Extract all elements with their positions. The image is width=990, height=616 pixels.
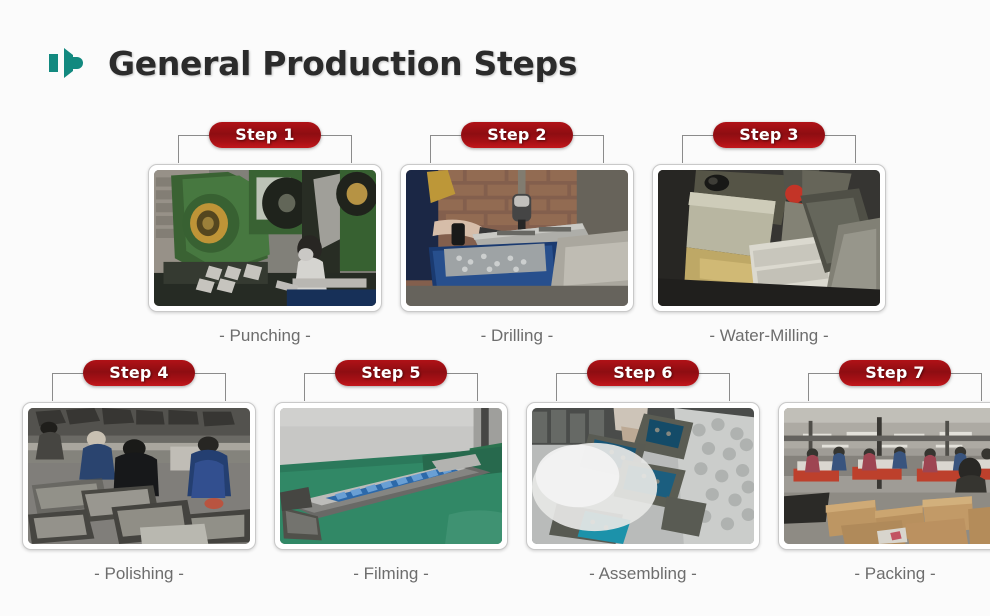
step-caption: - Punching - [148, 326, 382, 346]
status-badge: Step 6 [587, 360, 698, 386]
status-badge: Step 1 [209, 122, 320, 148]
drilling-photo [406, 170, 628, 306]
punching-photo [154, 170, 376, 306]
step-caption: - Polishing - [22, 564, 256, 584]
packing-photo [784, 408, 990, 544]
step-caption: - Drilling - [400, 326, 634, 346]
steps-row-top: Step 1 [148, 122, 886, 346]
steps-row-bottom: Step 4 [22, 360, 990, 584]
status-badge: Step 3 [713, 122, 824, 148]
badge-container: Step 1 [148, 122, 382, 152]
step-caption: - Water-Milling - [652, 326, 886, 346]
step-caption: - Assembling - [526, 564, 760, 584]
step-card-6[interactable]: Step 6 [526, 360, 760, 584]
water-milling-photo [658, 170, 880, 306]
step-card-7[interactable]: Step 7 [778, 360, 990, 584]
step-caption: - Packing - [778, 564, 990, 584]
photo-frame [22, 402, 256, 550]
step-card-3[interactable]: Step 3 [652, 122, 886, 346]
photo-frame [778, 402, 990, 550]
assembling-photo [532, 408, 754, 544]
page-title: General Production Steps [108, 44, 577, 83]
status-badge: Step 2 [461, 122, 572, 148]
speaker-icon [44, 40, 90, 86]
badge-container: Step 7 [778, 360, 990, 390]
status-badge: Step 4 [83, 360, 194, 386]
badge-container: Step 4 [22, 360, 256, 390]
photo-frame [274, 402, 508, 550]
step-card-1[interactable]: Step 1 [148, 122, 382, 346]
badge-container: Step 2 [400, 122, 634, 152]
step-card-4[interactable]: Step 4 [22, 360, 256, 584]
photo-frame [148, 164, 382, 312]
photo-frame [400, 164, 634, 312]
page-header: General Production Steps [44, 40, 577, 86]
polishing-photo [28, 408, 250, 544]
step-card-2[interactable]: Step 2 [400, 122, 634, 346]
status-badge: Step 7 [839, 360, 950, 386]
step-caption: - Filming - [274, 564, 508, 584]
badge-container: Step 3 [652, 122, 886, 152]
photo-frame [526, 402, 760, 550]
badge-container: Step 6 [526, 360, 760, 390]
filming-photo [280, 408, 502, 544]
step-card-5[interactable]: Step 5 [274, 360, 508, 584]
status-badge: Step 5 [335, 360, 446, 386]
badge-container: Step 5 [274, 360, 508, 390]
photo-frame [652, 164, 886, 312]
